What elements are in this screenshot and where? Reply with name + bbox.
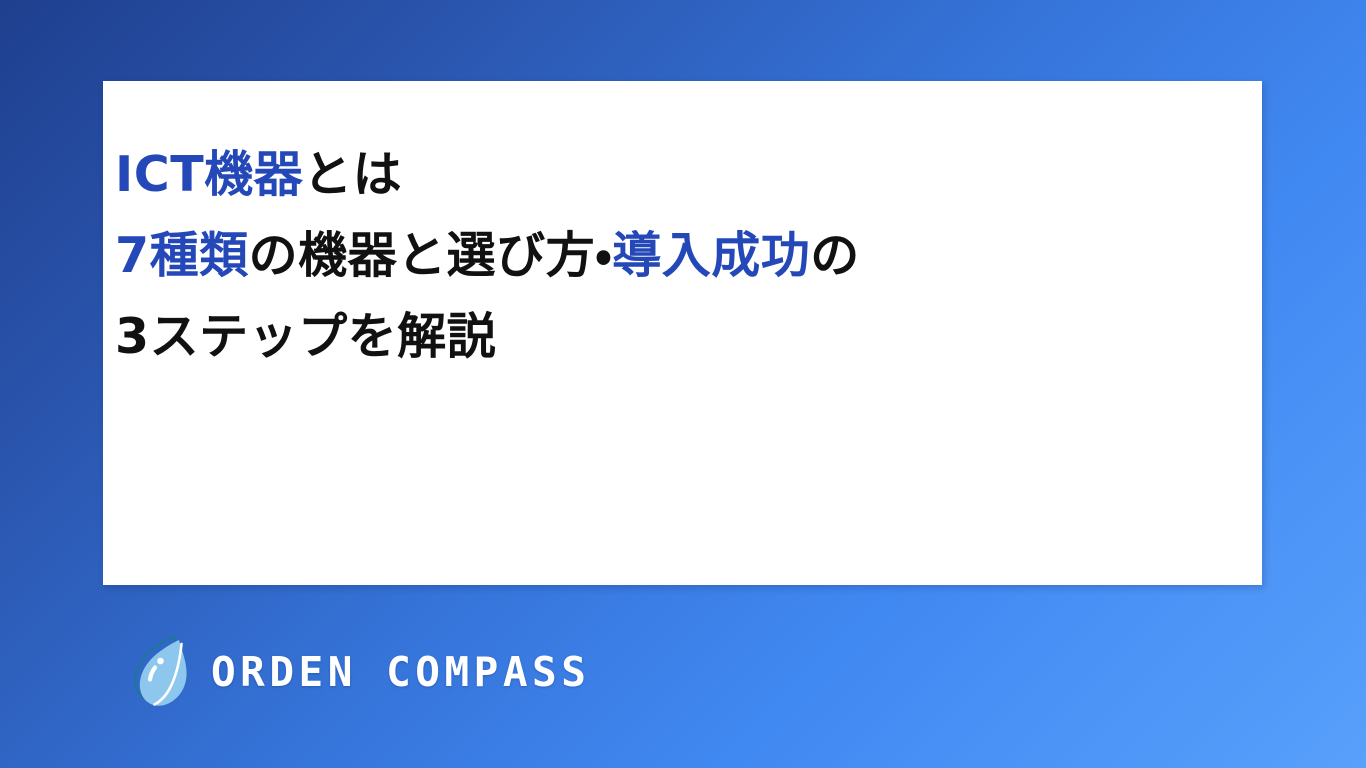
title-segment-base: とは (303, 146, 402, 203)
title-line-2: 7種類の機器と選び方・導入成功の (115, 215, 1115, 296)
title-segment-accent: 7種類 (115, 227, 249, 284)
title-segment-accent: 導入成功 (612, 227, 810, 284)
title-segment-base: の (810, 227, 860, 284)
title-line-1: ICT機器とは (115, 134, 1115, 215)
title-segment-base: 3ステップを解説 (115, 308, 496, 365)
brand-logo-text: ORDEN COMPASS (211, 652, 590, 693)
title-block: ICT機器とは 7種類の機器と選び方・導入成功の 3ステップを解説 (115, 134, 1115, 377)
water-droplet-icon (131, 633, 193, 711)
title-segment-base: の機器と選び方・ (249, 227, 613, 284)
brand-logo: ORDEN COMPASS (131, 633, 590, 711)
slide-canvas: ICT機器とは 7種類の機器と選び方・導入成功の 3ステップを解説 ORDEN … (0, 0, 1366, 768)
title-line-3: 3ステップを解説 (115, 296, 1115, 377)
title-segment-accent: ICT機器 (115, 146, 303, 203)
